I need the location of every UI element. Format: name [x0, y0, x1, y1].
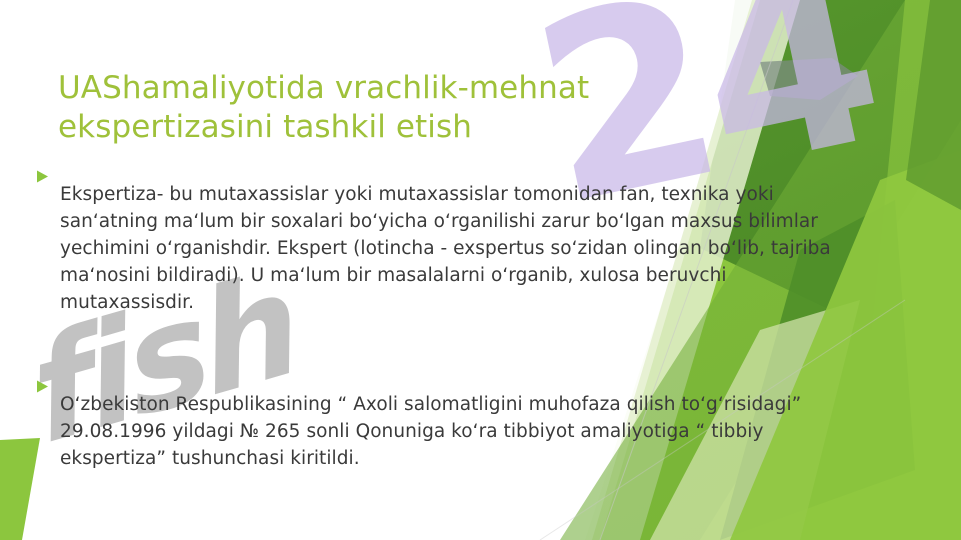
presentation-slide: fish 24 UAShamaliyotida vrachlik-mehnat … [0, 0, 961, 540]
bullet-item: O‘zbekiston Respublikasining “ Axoli sal… [36, 372, 836, 490]
bullet-text: O‘zbekiston Respublikasining “ Axoli sal… [60, 391, 836, 472]
triangle-right-bullet-icon [36, 162, 60, 183]
bullet-item: Ekspertiza- bu mutaxassislar yoki mutaxa… [36, 162, 836, 334]
slide-title: UAShamaliyotida vrachlik-mehnat eksperti… [58, 69, 698, 148]
bullet-text: Ekspertiza- bu mutaxassislar yoki mutaxa… [60, 181, 836, 316]
triangle-right-bullet-icon [36, 372, 60, 393]
slide-body: Ekspertiza- bu mutaxassislar yoki mutaxa… [36, 162, 836, 528]
